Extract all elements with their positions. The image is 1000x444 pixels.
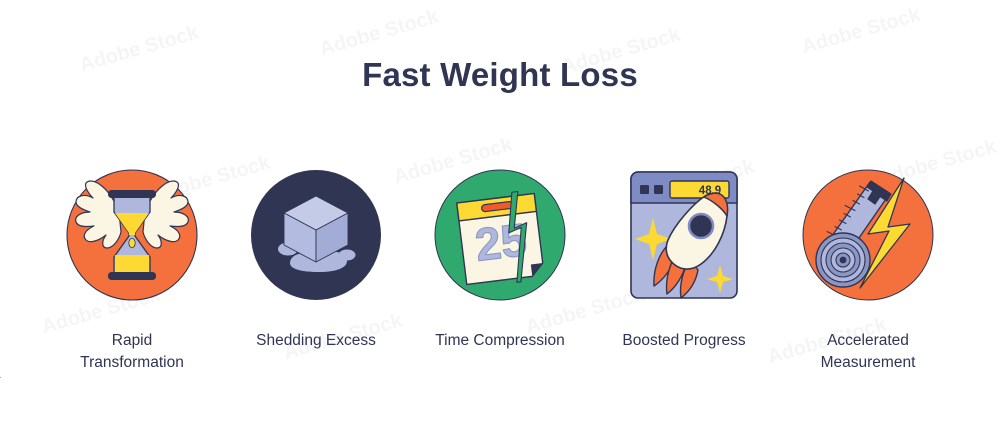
feature-list: Rapid Transformation — [40, 160, 960, 374]
measuring-tape-bolt-icon — [793, 160, 943, 310]
feature-label-line1: Time Compression — [435, 332, 565, 349]
feature-label: Boosted Progress — [622, 330, 745, 352]
feature-item-boosted-progress[interactable]: 48.9 Boosted Pr — [592, 160, 776, 352]
watermark-tile: Adobe Stock — [317, 6, 441, 62]
feature-label: Time Compression — [435, 330, 565, 352]
melting-cube-icon — [241, 160, 391, 310]
feature-label: Rapid Transformation — [80, 330, 184, 374]
stock-credit-watermark: Adobe Stock | #1113534510 — [0, 312, 2, 440]
feature-item-accelerated-measurement[interactable]: Accelerated Measurement — [776, 160, 960, 374]
watermark-tile: Adobe Stock — [799, 4, 923, 60]
cracked-calendar-25-icon: 25 — [425, 160, 575, 310]
page-title: Fast Weight Loss — [0, 56, 1000, 94]
feature-label-line1: Accelerated — [827, 332, 909, 349]
feature-label-line2: Measurement — [821, 354, 916, 371]
feature-label-line1: Rapid — [112, 332, 153, 349]
feature-label: Shedding Excess — [256, 330, 376, 352]
window-dot-icon — [640, 185, 649, 194]
feature-item-rapid-transformation[interactable]: Rapid Transformation — [40, 160, 224, 374]
feature-label-line2: Transformation — [80, 354, 184, 371]
feature-label-line1: Boosted Progress — [622, 332, 745, 349]
illustration-canvas: Adobe Stock Adobe Stock Adobe Stock Adob… — [0, 0, 1000, 444]
winged-hourglass-icon — [57, 160, 207, 310]
rocket-browser-icon: 48.9 — [609, 160, 759, 310]
window-dot-icon — [654, 185, 663, 194]
feature-label-line1: Shedding Excess — [256, 332, 376, 349]
feature-item-shedding-excess[interactable]: Shedding Excess — [224, 160, 408, 352]
feature-label: Accelerated Measurement — [821, 330, 916, 374]
feature-item-time-compression[interactable]: 25 Time Compression — [408, 160, 592, 352]
